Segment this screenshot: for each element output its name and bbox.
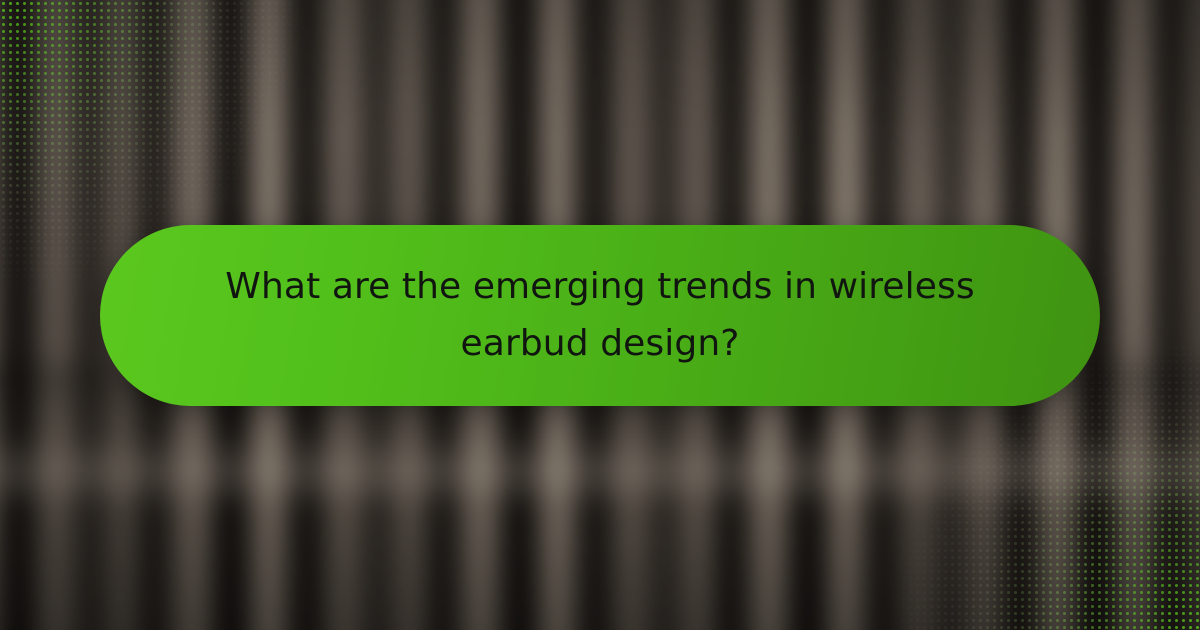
question-pill[interactable]: What are the emerging trends in wireless… bbox=[100, 225, 1100, 406]
question-pill-layer: What are the emerging trends in wireless… bbox=[0, 0, 1200, 630]
question-card-canvas: What are the emerging trends in wireless… bbox=[0, 0, 1200, 630]
question-text: What are the emerging trends in wireless… bbox=[186, 258, 1014, 372]
